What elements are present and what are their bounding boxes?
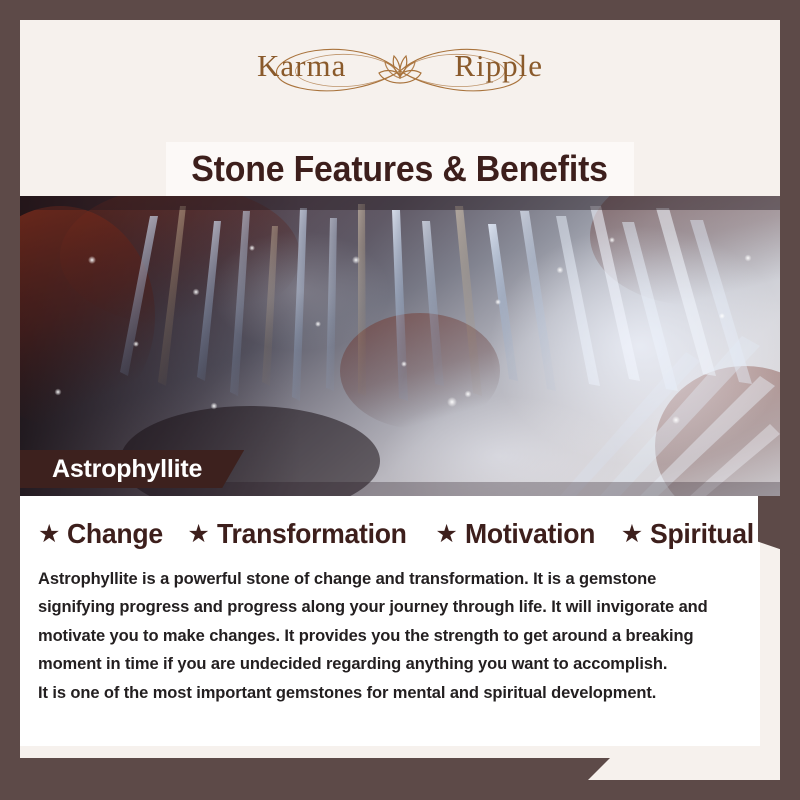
benefits-list: ★ Change ★ Transformation ★ Motivation ★… <box>38 518 744 550</box>
infographic-card: KarmaRipple Stone Features & Benefits As… <box>0 0 800 800</box>
description-line: moment in time if you are undecided rega… <box>38 650 744 678</box>
frame-right <box>780 0 800 800</box>
benefit-label: Change <box>67 518 163 550</box>
benefit-item: ★ Change <box>38 518 168 550</box>
description-text: Astrophyllite is a powerful stone of cha… <box>38 565 744 707</box>
description-line: signifying progress and progress along y… <box>38 593 744 621</box>
star-icon: ★ <box>435 522 457 547</box>
frame-top <box>0 0 800 20</box>
benefit-item: ★ Transformation <box>187 518 416 550</box>
star-icon: ★ <box>187 522 209 547</box>
description-line: Astrophyllite is a powerful stone of cha… <box>38 565 744 593</box>
description-line: It is one of the most important gemstone… <box>38 679 744 707</box>
benefit-item: ★ Spiritual <box>621 518 760 550</box>
benefit-label: Transformation <box>217 518 407 550</box>
page-title: Stone Features & Benefits <box>192 148 609 190</box>
stone-name-banner: Astrophyllite <box>0 450 244 488</box>
content-panel: ★ Change ★ Transformation ★ Motivation ★… <box>20 496 760 746</box>
star-icon: ★ <box>38 522 60 547</box>
benefit-label: Motivation <box>465 518 595 550</box>
description-line: motivate you to make changes. It provide… <box>38 622 744 650</box>
star-icon: ★ <box>621 522 643 547</box>
frame-bottom <box>0 780 800 800</box>
benefit-label: Spiritual <box>650 518 754 550</box>
stone-name-label: Astrophyllite <box>52 455 202 484</box>
frame-left <box>0 0 20 800</box>
benefit-item: ★ Motivation <box>435 518 601 550</box>
title-plate: Stone Features & Benefits <box>166 142 634 196</box>
